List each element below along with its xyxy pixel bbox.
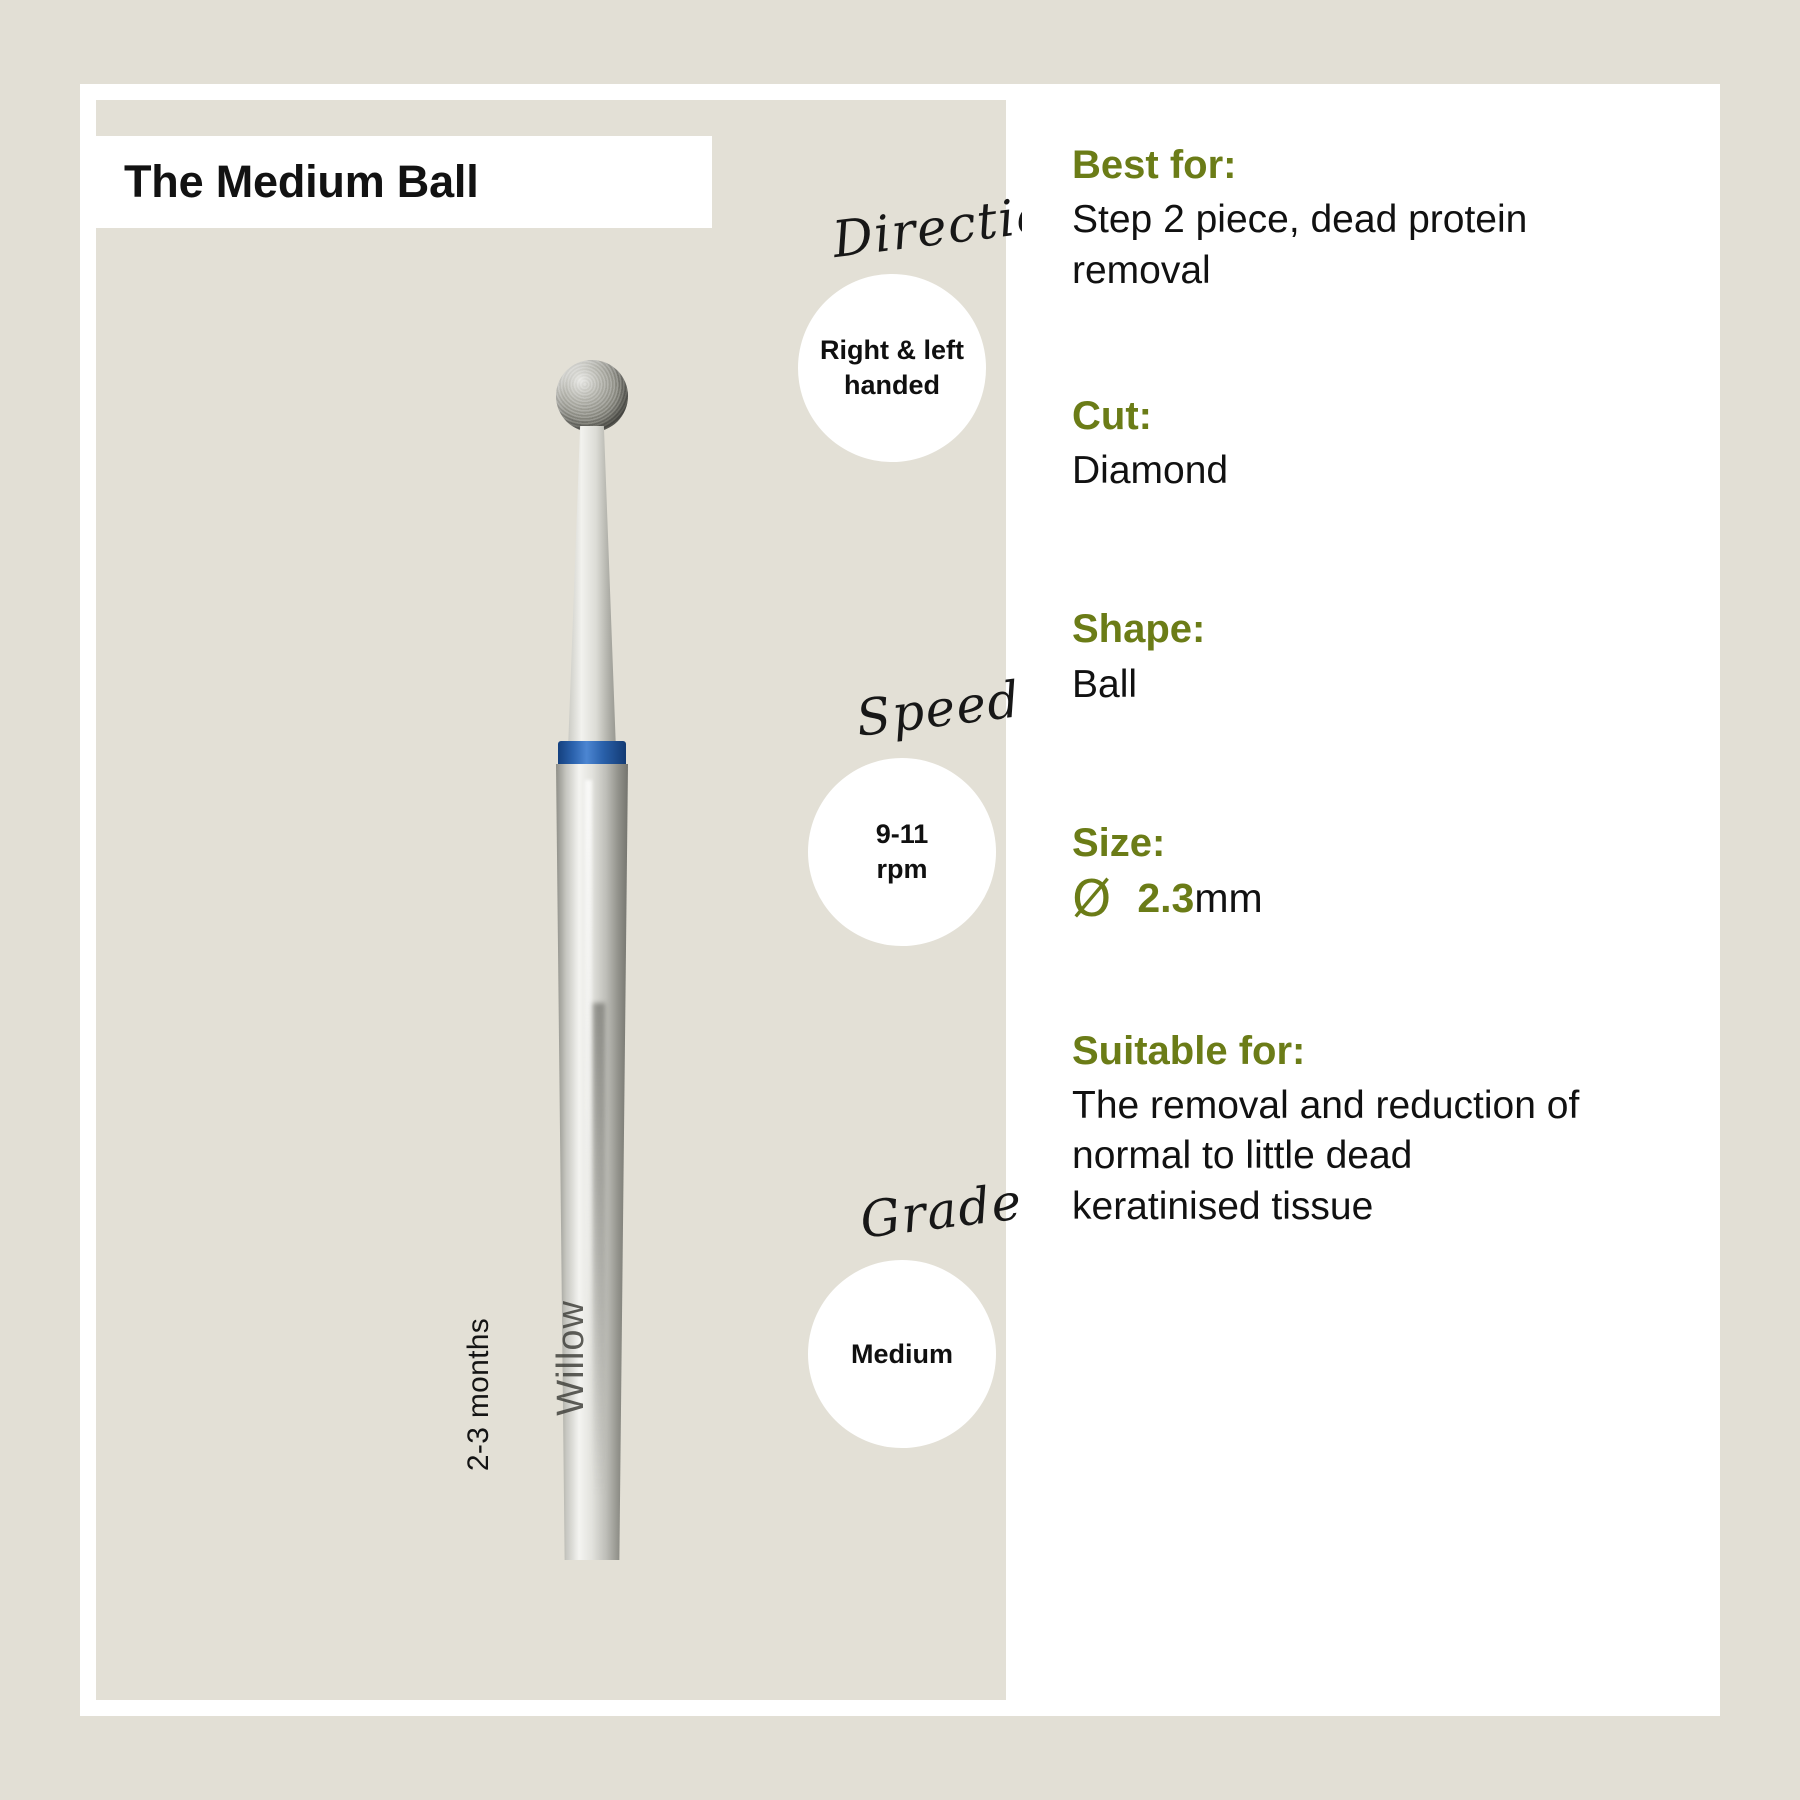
spacer — [1072, 924, 1670, 1028]
product-info-card: The Medium Ball Willow 2-3 months Direct… — [80, 84, 1720, 1716]
shape-body: Ball — [1072, 660, 1592, 711]
diameter-icon: Ø — [1072, 874, 1111, 924]
specifications-panel: Best for: Step 2 piece, dead protein rem… — [1022, 100, 1704, 1700]
bit-shank — [556, 764, 628, 1560]
spec-suitable-for: Suitable for: The removal and reduction … — [1072, 1028, 1670, 1233]
speed-badge-line-1: 9-11 — [876, 817, 929, 852]
spec-size: Size: Ø 2.3mm — [1072, 820, 1670, 923]
speed-script-label: Speed — [853, 670, 1024, 748]
spec-best-for: Best for: Step 2 piece, dead protein rem… — [1072, 142, 1670, 297]
cut-heading: Cut: — [1072, 393, 1670, 440]
speed-badge-line-2: rpm — [876, 852, 927, 887]
best-for-heading: Best for: — [1072, 142, 1670, 189]
spacer — [1072, 496, 1670, 606]
page-title: The Medium Ball — [96, 156, 479, 208]
brand-engraving: Willow — [550, 1300, 630, 1416]
title-banner: The Medium Ball — [96, 136, 712, 228]
lifespan-label: 2-3 months — [462, 1318, 496, 1471]
size-unit: mm — [1194, 875, 1262, 921]
suitable-for-body: The removal and reduction of normal to l… — [1072, 1081, 1592, 1233]
size-number: 2.3 — [1137, 875, 1194, 921]
spec-shape: Shape: Ball — [1072, 606, 1670, 710]
attribute-badges-column: Direction Right & left handed Speed 9-11… — [780, 100, 1006, 1700]
size-value-row: Ø 2.3mm — [1072, 874, 1670, 924]
grade-script-label: Grade — [857, 1172, 1026, 1249]
shape-heading: Shape: — [1072, 606, 1670, 653]
suitable-for-heading: Suitable for: — [1072, 1028, 1670, 1075]
best-for-body: Step 2 piece, dead protein removal — [1072, 195, 1592, 296]
drill-bit-image: Willow — [532, 360, 652, 1600]
direction-badge-line-2: handed — [844, 368, 940, 403]
spacer — [1072, 710, 1670, 820]
cut-body: Diamond — [1072, 446, 1592, 497]
bit-neck — [559, 426, 625, 744]
spec-cut: Cut: Diamond — [1072, 393, 1670, 497]
speed-badge: 9-11 rpm — [808, 758, 996, 946]
grade-color-band — [558, 741, 626, 767]
diamond-ball-head-icon — [556, 360, 628, 432]
direction-badge: Right & left handed — [798, 274, 986, 462]
grade-badge: Medium — [808, 1260, 996, 1448]
spacer — [1072, 297, 1670, 393]
direction-badge-line-1: Right & left — [820, 333, 964, 368]
size-measurement: 2.3mm — [1137, 875, 1262, 922]
size-heading: Size: — [1072, 820, 1670, 867]
grade-badge-line-1: Medium — [851, 1337, 953, 1372]
